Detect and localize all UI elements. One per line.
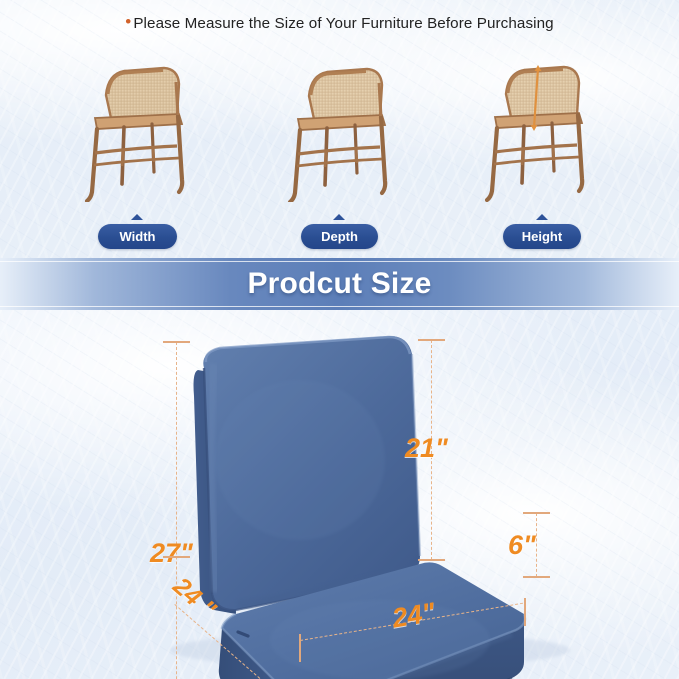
- label-pill-height: Height: [503, 224, 581, 249]
- pointer-triangle-depth-icon: [333, 214, 345, 220]
- dimension-label-seat-thickness: 6": [508, 530, 536, 561]
- dimension-cap-left-width: [299, 634, 301, 662]
- label-pill-width: Width: [98, 224, 177, 249]
- dimension-cap-top-21: [418, 339, 445, 341]
- dimension-cap-bottom-21: [418, 559, 445, 561]
- dimension-cap-top-6: [523, 512, 550, 514]
- dimension-line-overall-height: [176, 342, 177, 679]
- infographic-page: •Please Measure the Size of Your Furnitu…: [0, 0, 679, 679]
- chair-illustration-height: [480, 52, 612, 202]
- back-cushion: [194, 336, 421, 614]
- pointer-triangle-height-icon: [536, 214, 548, 220]
- dimension-line-seat-thickness: [536, 513, 537, 577]
- cushion-set-illustration: [0, 310, 679, 679]
- product-size-section: 27" 21" 24 " 24" 6" 6 Inches: [0, 310, 679, 679]
- banner-title: Prodcut Size: [0, 258, 679, 310]
- label-pill-depth: Depth: [301, 224, 378, 249]
- pointer-triangle-width-icon: [131, 214, 143, 220]
- headline-text: Please Measure the Size of Your Furnitur…: [133, 15, 553, 32]
- dimension-cap-bottom-6: [523, 576, 550, 578]
- dimension-label-back-height: 21": [405, 433, 448, 464]
- measure-guide-section: •Please Measure the Size of Your Furnitu…: [0, 0, 679, 258]
- chair-illustration-width: [78, 52, 210, 202]
- dimension-cap-right-width: [524, 598, 526, 626]
- dimension-label-overall-height: 27": [150, 538, 193, 569]
- bullet-icon: •: [125, 12, 131, 31]
- chair-illustration-depth: [279, 52, 411, 202]
- section-banner: Prodcut Size: [0, 258, 679, 310]
- dimension-cap-start-depth: [163, 556, 190, 558]
- dimension-cap-top-27: [163, 341, 190, 343]
- page-title: •Please Measure the Size of Your Furnitu…: [0, 12, 679, 32]
